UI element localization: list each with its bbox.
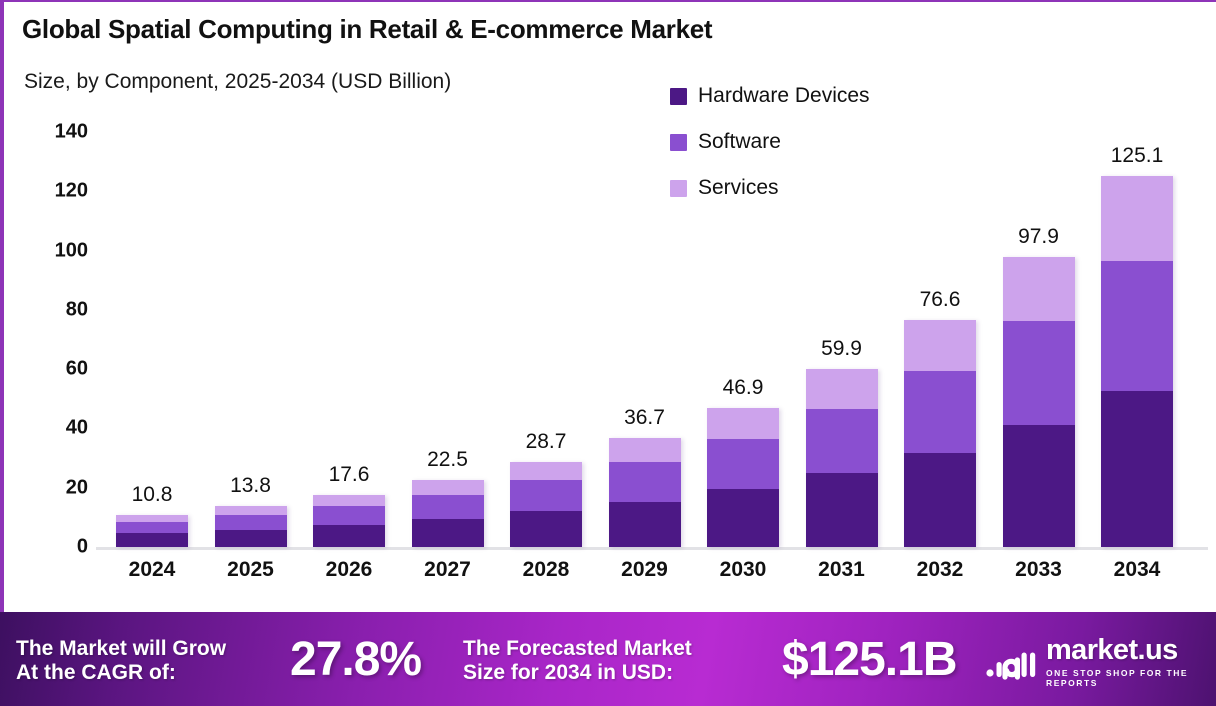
- bar-group[interactable]: 76.62032: [904, 2, 976, 547]
- bar-segment-software[interactable]: [412, 495, 484, 519]
- bar-segment-services[interactable]: [1003, 257, 1075, 321]
- y-axis: 020406080100120140: [26, 2, 88, 612]
- stacked-bar[interactable]: [313, 495, 385, 547]
- stacked-bar[interactable]: [510, 462, 582, 547]
- bar-segment-hardware-devices[interactable]: [904, 453, 976, 547]
- bar-segment-services[interactable]: [313, 495, 385, 506]
- bar-segment-software[interactable]: [215, 515, 287, 530]
- y-axis-tick-label: 140: [55, 121, 88, 144]
- bar-segment-software[interactable]: [609, 462, 681, 501]
- market-us-logo-icon: [985, 642, 1037, 682]
- cagr-caption: The Market will Grow At the CAGR of:: [16, 637, 226, 685]
- bar-group[interactable]: 97.92033: [1003, 2, 1075, 547]
- y-axis-tick-label: 20: [66, 476, 88, 499]
- stacked-bar[interactable]: [412, 480, 484, 547]
- bar-segment-services[interactable]: [510, 462, 582, 480]
- cagr-caption-line1: The Market will Grow: [16, 637, 226, 661]
- bar-series-container: 10.8202413.8202517.6202622.5202728.72028…: [104, 2, 1204, 612]
- forecast-size-value: $125.1B: [782, 632, 956, 687]
- x-axis-tick-label: 2031: [818, 558, 865, 582]
- x-axis-tick-label: 2025: [227, 558, 274, 582]
- bar-segment-services[interactable]: [609, 438, 681, 462]
- brand-tagline: ONE STOP SHOP FOR THE REPORTS: [1046, 668, 1216, 688]
- stacked-bar[interactable]: [215, 506, 287, 547]
- x-axis-tick-label: 2027: [424, 558, 471, 582]
- bar-segment-hardware-devices[interactable]: [806, 473, 878, 547]
- bar-segment-hardware-devices[interactable]: [1101, 391, 1173, 547]
- bar-segment-services[interactable]: [116, 515, 188, 522]
- forecast-caption-line2: Size for 2034 in USD:: [463, 661, 692, 685]
- bar-segment-software[interactable]: [510, 480, 582, 511]
- x-axis-tick-label: 2024: [129, 558, 176, 582]
- brand-text: market.us ONE STOP SHOP FOR THE REPORTS: [1046, 636, 1216, 688]
- bar-total-label: 76.6: [920, 288, 961, 312]
- x-axis-tick-label: 2029: [621, 558, 668, 582]
- bar-total-label: 28.7: [526, 430, 567, 454]
- y-axis-tick-label: 60: [66, 358, 88, 381]
- bar-group[interactable]: 36.72029: [609, 2, 681, 547]
- infographic-root: Global Spatial Computing in Retail & E-c…: [0, 0, 1216, 706]
- footer-banner: The Market will Grow At the CAGR of: 27.…: [0, 612, 1216, 706]
- bar-segment-services[interactable]: [707, 408, 779, 439]
- y-axis-tick-label: 40: [66, 417, 88, 440]
- bar-segment-software[interactable]: [1101, 261, 1173, 391]
- bar-group[interactable]: 28.72028: [510, 2, 582, 547]
- bar-group[interactable]: 46.92030: [707, 2, 779, 547]
- bar-segment-services[interactable]: [1101, 176, 1173, 260]
- bar-group[interactable]: 125.12034: [1101, 2, 1173, 547]
- bar-group[interactable]: 13.82025: [215, 2, 287, 547]
- bar-group[interactable]: 10.82024: [116, 2, 188, 547]
- brand-name: market.us: [1046, 636, 1216, 665]
- bar-total-label: 13.8: [230, 474, 271, 498]
- bar-segment-services[interactable]: [412, 480, 484, 495]
- brand-logo[interactable]: market.us ONE STOP SHOP FOR THE REPORTS: [985, 636, 1216, 688]
- bar-segment-hardware-devices[interactable]: [609, 502, 681, 547]
- bar-group[interactable]: 59.92031: [806, 2, 878, 547]
- stacked-bar[interactable]: [904, 320, 976, 547]
- bar-segment-software[interactable]: [116, 522, 188, 534]
- bar-segment-hardware-devices[interactable]: [510, 511, 582, 547]
- bar-total-label: 22.5: [427, 448, 468, 472]
- chart-plot-area: 020406080100120140 10.8202413.8202517.62…: [4, 2, 1216, 612]
- bar-segment-hardware-devices[interactable]: [215, 530, 287, 547]
- y-axis-tick-label: 80: [66, 298, 88, 321]
- stacked-bar[interactable]: [1101, 176, 1173, 547]
- bar-group[interactable]: 22.52027: [412, 2, 484, 547]
- bar-segment-software[interactable]: [1003, 321, 1075, 425]
- bar-segment-services[interactable]: [806, 369, 878, 408]
- bar-segment-hardware-devices[interactable]: [707, 489, 779, 547]
- bar-total-label: 97.9: [1018, 225, 1059, 249]
- bar-total-label: 10.8: [132, 483, 173, 507]
- bar-segment-software[interactable]: [806, 409, 878, 473]
- y-axis-tick-label: 120: [55, 180, 88, 203]
- stacked-bar[interactable]: [1003, 257, 1075, 547]
- forecast-size-caption: The Forecasted Market Size for 2034 in U…: [463, 637, 692, 685]
- cagr-caption-line2: At the CAGR of:: [16, 661, 226, 685]
- x-axis-tick-label: 2034: [1114, 558, 1161, 582]
- bar-total-label: 125.1: [1111, 144, 1164, 168]
- bar-segment-software[interactable]: [707, 439, 779, 489]
- cagr-value: 27.8%: [290, 632, 421, 687]
- bar-segment-services[interactable]: [215, 506, 287, 515]
- x-axis-tick-label: 2030: [720, 558, 767, 582]
- bar-segment-hardware-devices[interactable]: [412, 519, 484, 547]
- bar-total-label: 17.6: [329, 463, 370, 487]
- x-axis-tick-label: 2032: [917, 558, 964, 582]
- bar-group[interactable]: 17.62026: [313, 2, 385, 547]
- bar-segment-services[interactable]: [904, 320, 976, 371]
- bar-segment-hardware-devices[interactable]: [313, 525, 385, 547]
- bar-total-label: 59.9: [821, 337, 862, 361]
- x-axis-tick-label: 2026: [326, 558, 373, 582]
- x-axis-tick-label: 2033: [1015, 558, 1062, 582]
- bar-segment-hardware-devices[interactable]: [1003, 425, 1075, 547]
- bar-segment-software[interactable]: [904, 371, 976, 453]
- bar-segment-hardware-devices[interactable]: [116, 533, 188, 547]
- stacked-bar[interactable]: [707, 408, 779, 547]
- x-axis-tick-label: 2028: [523, 558, 570, 582]
- bar-total-label: 46.9: [723, 376, 764, 400]
- y-axis-tick-label: 0: [77, 536, 88, 559]
- forecast-caption-line1: The Forecasted Market: [463, 637, 692, 661]
- bar-total-label: 36.7: [624, 406, 665, 430]
- bar-segment-software[interactable]: [313, 506, 385, 525]
- stacked-bar[interactable]: [609, 438, 681, 547]
- stacked-bar[interactable]: [806, 369, 878, 547]
- y-axis-tick-label: 100: [55, 239, 88, 262]
- stacked-bar[interactable]: [116, 515, 188, 547]
